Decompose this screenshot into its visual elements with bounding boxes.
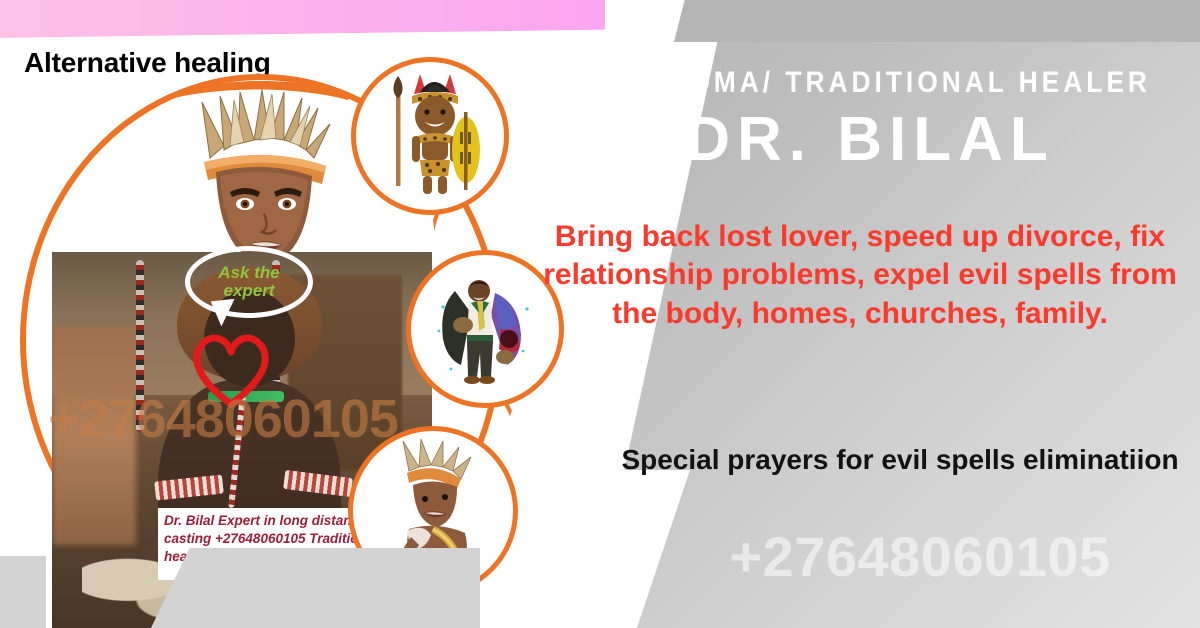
top-pink-bar [0,0,605,38]
bottom-gray-shape [150,548,480,628]
services-copy: Bring back lost lover, speed up divorce,… [540,218,1180,333]
watermark-phone: +27648060105 [640,524,1200,589]
ask-the-expert-bubble: Ask the expert [185,246,313,318]
zulu-warrior-illustration [351,57,509,215]
bottom-left-gray-strip [0,556,46,628]
page-title: Alternative healing [24,48,354,79]
kicker-text: SANGOMA/ TRADITIONAL HEALER [597,66,1143,100]
healer-name: DR. BILAL [560,104,1180,175]
alternative-healing-block: Alternative healing [24,48,354,79]
speech-bubble-text: Ask the expert [212,264,286,301]
poster-canvas: Alternative healing [0,0,1200,628]
right-gray-panel-top-band [674,0,1200,42]
special-prayers-copy: Special prayers for evil spells eliminat… [610,442,1190,478]
